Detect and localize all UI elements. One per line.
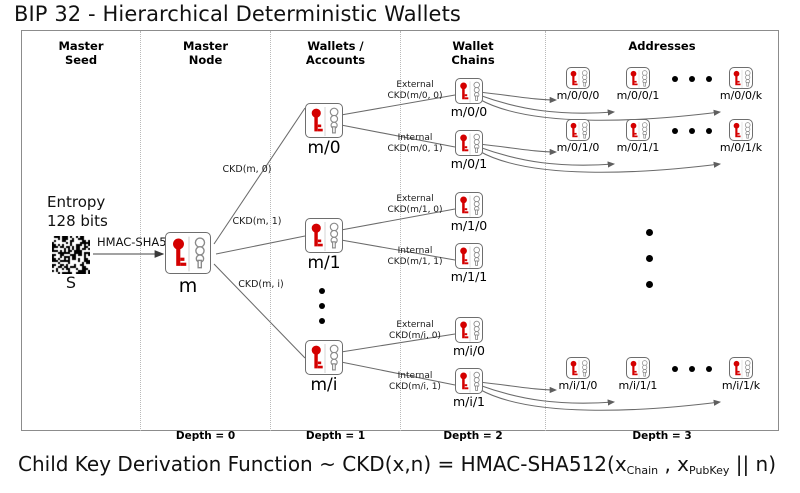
column-header-line2: Seed <box>22 53 140 67</box>
column-header-line1: Addresses <box>546 39 778 53</box>
node-label: m/i <box>294 375 354 395</box>
column-header-master-node: Master Node <box>141 39 270 67</box>
edge-label-chain-m-i-1: Internal CKD(m/i, 1) <box>372 371 458 392</box>
node-label: m <box>158 275 218 297</box>
edge-label-chain-m-0-0: External CKD(m/0, 0) <box>372 80 458 101</box>
edge-label-chain-m-1-0: External CKD(m/1, 0) <box>372 194 458 215</box>
depth-label-1: Depth = 1 <box>271 430 400 442</box>
key-pair-glyph <box>456 79 484 105</box>
edge-ckd: CKD(m/i, 1) <box>372 382 458 393</box>
key-pair-glyph <box>166 233 212 275</box>
depth-label-2: Depth = 2 <box>401 430 545 442</box>
column-header-wallet-chains: Wallet Chains <box>401 39 545 67</box>
node-label: m/0/1 <box>440 156 498 171</box>
depth-label-0: Depth = 0 <box>141 430 270 442</box>
node-label: m/0/0/0 <box>551 89 605 102</box>
key-pair-glyph <box>306 219 344 254</box>
key-pair-glyph <box>627 120 651 142</box>
key-card-icon <box>729 119 753 141</box>
column-divider-2 <box>270 31 271 431</box>
edge-ckd: CKD(m/1, 0) <box>372 205 458 216</box>
edge-kind: External <box>372 80 458 91</box>
key-pair-glyph <box>456 131 484 157</box>
key-pair-glyph <box>627 358 651 380</box>
edge-kind: Internal <box>372 371 458 382</box>
node-label: m/0 <box>294 138 354 158</box>
column-header-line1: Wallets / <box>271 39 400 53</box>
addresses-ellipsis-row-2 <box>672 128 718 135</box>
key-card-icon <box>455 317 483 343</box>
node-label: m/0/0/k <box>714 89 768 102</box>
key-card-icon <box>165 232 211 274</box>
edge-label-ckd-m-0: CKD(m, 0) <box>212 164 282 175</box>
column-header-line2: Node <box>141 53 270 67</box>
node-label: m/1/1 <box>440 269 498 284</box>
key-pair-glyph <box>456 193 484 219</box>
edge-ckd: CKD(m/i, 0) <box>372 331 458 342</box>
node-label: m/i/1/1 <box>611 379 665 392</box>
column-divider-4 <box>545 31 546 431</box>
key-card-icon <box>455 78 483 104</box>
key-pair-glyph <box>567 120 591 142</box>
depth-label-3: Depth = 3 <box>546 430 778 442</box>
column-header-addresses: Addresses <box>546 39 778 53</box>
key-pair-glyph <box>456 369 484 395</box>
edge-label-ckd-m-i: CKD(m, i) <box>226 279 296 290</box>
key-pair-glyph <box>567 68 591 90</box>
edge-kind: External <box>372 194 458 205</box>
formula-sub-pubkey: PubKey <box>689 464 729 477</box>
entropy-label: Entropy 128 bits <box>47 193 108 231</box>
edge-kind: External <box>372 320 458 331</box>
entropy-line2: 128 bits <box>47 212 108 231</box>
key-card-icon <box>566 119 590 141</box>
edge-label-chain-m-0-1: Internal CKD(m/0, 1) <box>372 133 458 154</box>
addresses-ellipsis-vertical <box>646 229 654 294</box>
edge-ckd: CKD(m/0, 1) <box>372 144 458 155</box>
key-pair-glyph <box>627 68 651 90</box>
key-card-icon <box>305 103 343 138</box>
node-label: m/i/1 <box>440 394 498 409</box>
page-title: BIP 32 - Hierarchical Deterministic Wall… <box>14 2 461 26</box>
key-card-icon <box>626 357 650 379</box>
column-header-line1: Wallet <box>401 39 545 53</box>
key-card-icon <box>305 340 343 375</box>
key-card-icon <box>566 357 590 379</box>
key-card-icon <box>455 130 483 156</box>
entropy-line1: Entropy <box>47 193 108 212</box>
edge-kind: Internal <box>372 246 458 257</box>
formula-caption: Child Key Derivation Function ~ CKD(x,n)… <box>18 452 776 480</box>
column-header-line1: Master <box>141 39 270 53</box>
column-header-master-seed: Master Seed <box>22 39 140 67</box>
key-pair-glyph <box>567 358 591 380</box>
node-label: m/1 <box>294 253 354 273</box>
node-label: m/1/0 <box>440 218 498 233</box>
formula-suffix: || n) <box>729 452 776 476</box>
edge-label-ckd-m-1: CKD(m, 1) <box>222 216 292 227</box>
accounts-ellipsis <box>319 288 327 328</box>
key-card-icon <box>566 67 590 89</box>
column-header-line2: Chains <box>401 53 545 67</box>
edge-label-chain-m-i-0: External CKD(m/i, 0) <box>372 320 458 341</box>
seed-label: S <box>52 273 90 292</box>
edge-ckd: CKD(m/1, 1) <box>372 257 458 268</box>
addresses-ellipsis-row-1 <box>672 76 718 83</box>
key-card-icon <box>626 67 650 89</box>
node-label: m/0/1/k <box>714 141 768 154</box>
key-card-icon <box>729 357 753 379</box>
key-card-icon <box>305 218 343 253</box>
diagram-canvas: BIP 32 - Hierarchical Deterministic Wall… <box>0 0 800 493</box>
formula-mid: , x <box>658 452 689 476</box>
qr-code-icon <box>52 236 90 274</box>
formula-prefix: Child Key Derivation Function ~ CKD(x,n)… <box>18 452 627 476</box>
node-label: m/0/0 <box>440 104 498 119</box>
key-card-icon <box>729 67 753 89</box>
edge-ckd: CKD(m/0, 0) <box>372 91 458 102</box>
node-label: m/0/1/0 <box>551 141 605 154</box>
column-header-line1: Master <box>22 39 140 53</box>
key-pair-glyph <box>456 318 484 344</box>
key-card-icon <box>455 192 483 218</box>
key-pair-glyph <box>456 244 484 270</box>
node-label: m/i/1/0 <box>551 379 605 392</box>
key-pair-glyph <box>730 68 754 90</box>
column-divider-1 <box>140 31 141 431</box>
column-header-line2: Accounts <box>271 53 400 67</box>
column-header-wallets-accounts: Wallets / Accounts <box>271 39 400 67</box>
node-label: m/0/1/1 <box>611 141 665 154</box>
key-pair-glyph <box>306 104 344 139</box>
key-card-icon <box>626 119 650 141</box>
addresses-ellipsis-row-3 <box>672 366 718 373</box>
node-label: m/i/0 <box>440 343 498 358</box>
edge-label-chain-m-1-1: Internal CKD(m/1, 1) <box>372 246 458 267</box>
key-card-icon <box>455 243 483 269</box>
key-pair-glyph <box>306 341 344 376</box>
edge-kind: Internal <box>372 133 458 144</box>
formula-sub-chain: Chain <box>627 464 658 477</box>
node-label: m/0/0/1 <box>611 89 665 102</box>
key-pair-glyph <box>730 120 754 142</box>
key-pair-glyph <box>730 358 754 380</box>
key-card-icon <box>455 368 483 394</box>
node-label: m/i/1/k <box>714 379 768 392</box>
